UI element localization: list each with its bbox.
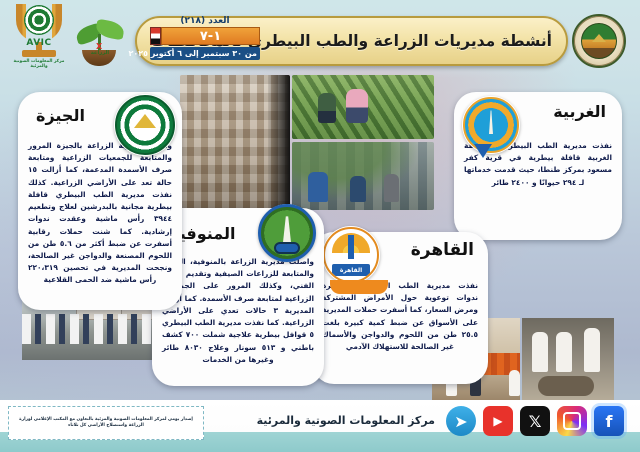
center-name-label: مركز المعلومات الصوتية والمرئية [257, 414, 435, 427]
header: أنشطة مديريات الزراعة والطب البيطري بالم… [0, 0, 640, 82]
card-giza-title: الجيزة [36, 106, 85, 125]
cairo-emblem-plate-text: القاهرة [332, 264, 370, 276]
instagram-icon[interactable] [557, 406, 587, 436]
youtube-icon[interactable]: ▶ [483, 406, 513, 436]
card-giza-body: واصلت مديرية الزراعة بالجيزة المرور والم… [18, 136, 182, 297]
card-gharbia-title: الغربية [553, 102, 606, 121]
card-giza: الجيزة واصلت مديرية الزراعة بالجيزة المر… [18, 92, 182, 310]
gharbia-emblem-pin-icon [474, 144, 492, 158]
telegram-icon[interactable]: ➤ [446, 406, 476, 436]
cairo-emblem-accent-bar [330, 280, 388, 294]
footer-note-text: إصدار يومي لمركز المعلومات الصوتية والمر… [13, 417, 199, 428]
ministry-seal-icon [572, 14, 626, 68]
infographic-page: أنشطة مديريات الزراعة والطب البيطري بالم… [0, 0, 640, 452]
agriculture-plant-logo-icon: X الزراعة [68, 6, 130, 70]
card-cairo-title: القاهرة [411, 240, 474, 260]
card-giza-header: الجيزة [18, 92, 182, 136]
card-cairo: القاهرة القاهرة نفذت مديرية الطب البيطري… [312, 232, 488, 384]
menoufia-governorate-emblem-icon [258, 204, 316, 262]
issue-range-row: ١-٧ [150, 27, 260, 45]
warehouse-sacks-photo [180, 75, 290, 210]
cairo-governorate-emblem-icon: القاهرة [322, 226, 380, 284]
card-cairo-header: القاهرة القاهرة [312, 232, 488, 276]
egypt-flag-icon [150, 27, 161, 45]
issue-number: العدد (٢١٨) [150, 16, 260, 26]
footer: f 𝕏 ▶ ➤ مركز المعلومات الصوتية والمرئية … [0, 400, 640, 452]
plant-logo-text: الزراعة [85, 51, 115, 57]
market-campaign-photo [292, 142, 434, 210]
card-gharbia: الغربية نفذت مديرية الطب البيطري بمحافظة… [454, 92, 622, 240]
issue-block: العدد (٢١٨) ١-٧ من ٣٠ سبتمبر إلى ٦ أكتوب… [150, 16, 260, 60]
giza-governorate-emblem-icon [114, 94, 176, 156]
footer-note-box: إصدار يومي لمركز المعلومات الصوتية والمر… [8, 406, 204, 440]
issue-date-range: من ٣٠ سبتمبر إلى ٦ أكتوبر ٢٠٢٥ [150, 47, 260, 60]
x-twitter-icon[interactable]: 𝕏 [520, 406, 550, 436]
avic-logo-icon: AVIC مركز المعلومات الصوتية والمرئية [8, 4, 70, 74]
social-links[interactable]: f 𝕏 ▶ ➤ [446, 406, 624, 436]
avic-logo-subtitle: مركز المعلومات الصوتية والمرئية [8, 60, 70, 69]
veterinary-treatment-photo [522, 318, 614, 402]
facebook-icon[interactable]: f [594, 406, 624, 436]
issue-range-value: ١-٧ [161, 27, 260, 45]
card-gharbia-header: الغربية [454, 92, 622, 136]
field-inspection-photo [292, 75, 434, 139]
